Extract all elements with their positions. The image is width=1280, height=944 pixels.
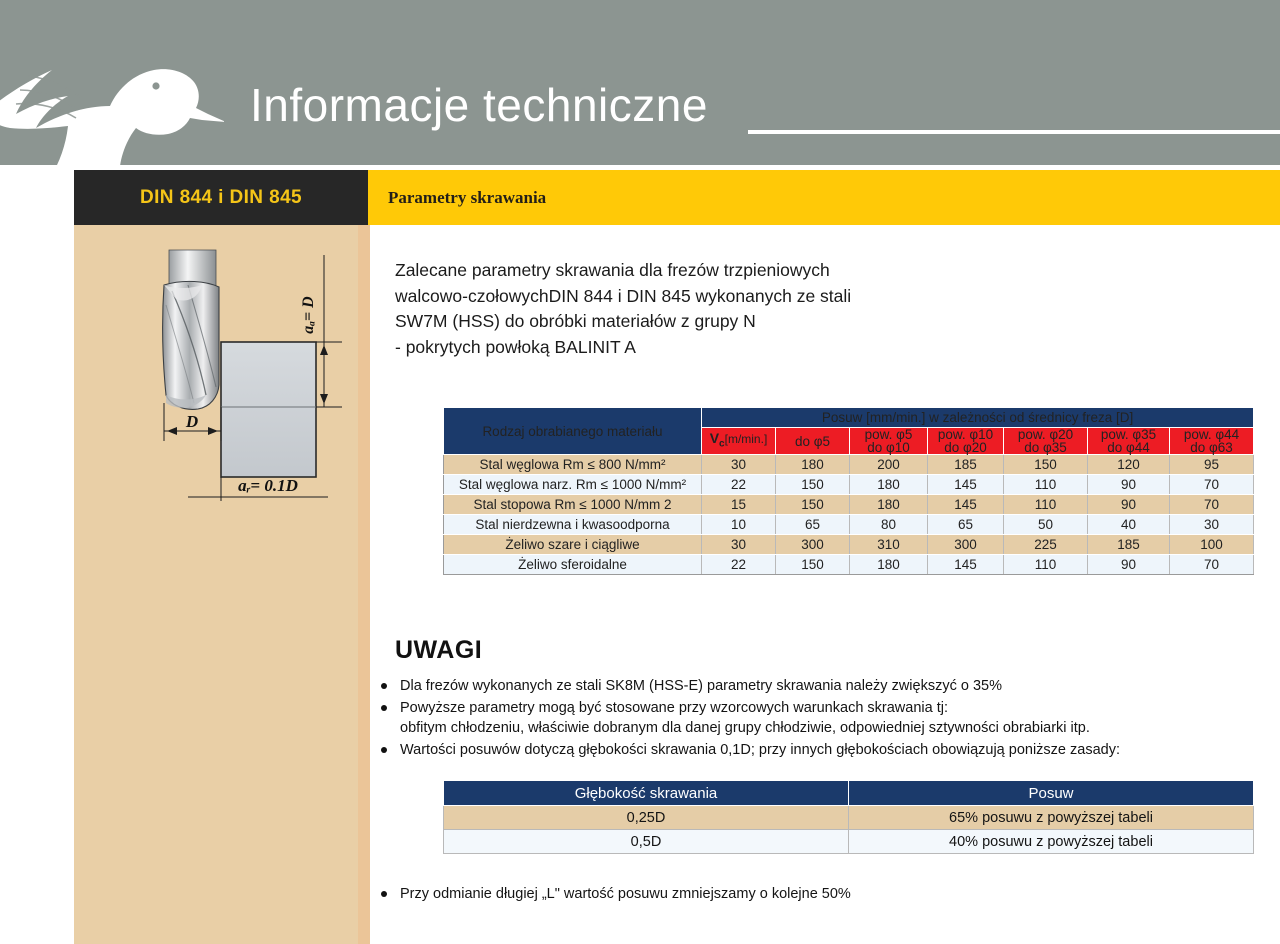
end-mill-cutting-diagram: aₐ= D D aᵣ= 0.1D [128,245,378,510]
header-col-5: pow. φ44 do φ63 [1170,428,1254,455]
row-3-v3: 50 [1004,515,1088,535]
standard-bar: DIN 844 i DIN 845 [74,170,368,225]
page-root: Informacje techniczne DIN 844 i DIN 845 … [0,0,1280,944]
header-col-3: pow. φ20 do φ35 [1004,428,1088,455]
row-5-v1: 180 [850,555,928,575]
note-item-last: Przy odmianie długiej „L" wartość posuwu… [381,884,1280,905]
row-0-v0: 180 [776,455,850,475]
header-col-4: pow. φ35 do φ44 [1088,428,1170,455]
header-col-2: pow. φ10 do φ20 [928,428,1004,455]
row-1-v3: 110 [1004,475,1088,495]
table-row: 0,25D 65% posuwu z powyższej tabeli [444,806,1254,830]
row-1-material: Stal węglowa narz. Rm ≤ 1000 N/mm² [444,475,702,495]
row-0-v5: 95 [1170,455,1254,475]
note-subtext: obfitym chłodzeniu, właściwie dobranym d… [400,718,1261,739]
depth-row-1-depth: 0,5D [444,830,849,854]
depth-feed-table: Głębokość skrawania Posuw 0,25D 65% posu… [443,780,1254,854]
row-0-v3: 150 [1004,455,1088,475]
depth-row-1-feed: 40% posuwu z powyższej tabeli [849,830,1254,854]
title-underline [748,130,1280,134]
row-4-v3: 225 [1004,535,1088,555]
depth-header-0: Głębokość skrawania [444,781,849,806]
header-col-1: pow. φ5 do φ10 [850,428,928,455]
table-row: 0,5D 40% posuwu z powyższej tabeli [444,830,1254,854]
row-0-v1: 200 [850,455,928,475]
note-item: Dla frezów wykonanych ze stali SK8M (HSS… [381,676,1261,697]
depth-header-1: Posuw [849,781,1254,806]
row-0-v4: 120 [1088,455,1170,475]
table-row: Żeliwo sferoidalne 22 150 180 145 110 90… [444,555,1254,575]
row-4-v1: 310 [850,535,928,555]
note-text: Dla frezów wykonanych ze stali SK8M (HSS… [400,678,1002,694]
note-item: Powyższe parametry mogą być stosowane pr… [381,698,1261,739]
diagram-label-diameter: D [185,412,198,431]
note-item: Wartości posuwów dotyczą głębokości skra… [381,740,1261,761]
row-2-v5: 70 [1170,495,1254,515]
row-5-v5: 70 [1170,555,1254,575]
row-1-v1: 180 [850,475,928,495]
row-3-v4: 40 [1088,515,1170,535]
row-1-v2: 145 [928,475,1004,495]
table-row: Stal węglowa narz. Rm ≤ 1000 N/mm² 22 15… [444,475,1254,495]
cutting-parameters-table: Rodzaj obrabianego materiału Posuw [mm/m… [443,407,1254,575]
intro-line-4: - pokrytych powłoką BALINIT A [395,335,995,361]
vc-symbol: V [710,430,719,446]
row-3-v0: 65 [776,515,850,535]
vc-unit: [m/min.] [725,432,768,446]
row-5-v0: 150 [776,555,850,575]
row-3-v1: 80 [850,515,928,535]
row-5-v2: 145 [928,555,1004,575]
intro-line-1: Zalecane parametry skrawania dla frezów … [395,258,995,284]
note-text: Powyższe parametry mogą być stosowane pr… [400,700,948,716]
depth-header-row: Głębokość skrawania Posuw [444,781,1254,806]
note-text: Przy odmianie długiej „L" wartość posuwu… [400,886,851,902]
page-title: Informacje techniczne [250,78,708,132]
row-3-v2: 65 [928,515,1004,535]
depth-row-0-feed: 65% posuwu z powyższej tabeli [849,806,1254,830]
row-1-v0: 150 [776,475,850,495]
col-5-bottom: do φ63 [1190,440,1233,455]
row-0-vc: 30 [702,455,776,475]
row-4-v0: 300 [776,535,850,555]
row-2-material: Stal stopowa Rm ≤ 1000 N/mm 2 [444,495,702,515]
col-1-bottom: do φ10 [867,440,910,455]
header-band: Informacje techniczne [0,0,1280,165]
bullet-icon [381,683,387,689]
table-row: Stal nierdzewna i kwasoodporna 10 65 80 … [444,515,1254,535]
row-0-v2: 185 [928,455,1004,475]
row-4-vc: 30 [702,535,776,555]
section-bar: Parametry skrawania [368,170,1280,225]
table-header-group-row: Rodzaj obrabianego materiału Posuw [mm/m… [444,408,1254,428]
row-5-vc: 22 [702,555,776,575]
table-row: Stal stopowa Rm ≤ 1000 N/mm 2 15 150 180… [444,495,1254,515]
row-4-v5: 100 [1170,535,1254,555]
note-text: Wartości posuwów dotyczą głębokości skra… [400,742,1120,758]
row-3-material: Stal nierdzewna i kwasoodporna [444,515,702,535]
row-5-v4: 90 [1088,555,1170,575]
row-1-v5: 70 [1170,475,1254,495]
col-0-bottom: do φ5 [795,434,830,449]
row-4-v4: 185 [1088,535,1170,555]
header-vc: Vc[m/min.] [702,428,776,455]
col-4-bottom: do φ44 [1107,440,1150,455]
bullet-icon [381,747,387,753]
col-2-bottom: do φ20 [944,440,987,455]
row-4-v2: 300 [928,535,1004,555]
row-2-v2: 145 [928,495,1004,515]
row-2-v3: 110 [1004,495,1088,515]
intro-line-2: walcowo-czołowychDIN 844 i DIN 845 wykon… [395,284,995,310]
depth-row-0-depth: 0,25D [444,806,849,830]
row-5-material: Żeliwo sferoidalne [444,555,702,575]
diagram-label-radial: aᵣ= 0.1D [238,476,298,495]
section-label: Parametry skrawania [388,170,546,225]
header-feed-group: Posuw [mm/min.] w zależności od średnicy… [702,408,1254,428]
bullet-icon [381,705,387,711]
intro-paragraph: Zalecane parametry skrawania dla frezów … [395,258,995,360]
intro-line-3: SW7M (HSS) do obróbki materiałów z grupy… [395,309,995,335]
table-row: Żeliwo szare i ciągliwe 30 300 310 300 2… [444,535,1254,555]
notes-list: Dla frezów wykonanych ze stali SK8M (HSS… [381,676,1261,761]
table-row: Stal węglowa Rm ≤ 800 N/mm² 30 180 200 1… [444,455,1254,475]
row-3-vc: 10 [702,515,776,535]
diagram-label-axial: aₐ= D [300,296,317,334]
standard-label: DIN 844 i DIN 845 [74,170,368,225]
row-4-material: Żeliwo szare i ciągliwe [444,535,702,555]
row-5-v3: 110 [1004,555,1088,575]
notes-title: UWAGI [395,636,482,665]
row-2-v4: 90 [1088,495,1170,515]
row-2-v0: 150 [776,495,850,515]
row-2-vc: 15 [702,495,776,515]
row-1-v4: 90 [1088,475,1170,495]
row-2-v1: 180 [850,495,928,515]
row-0-material: Stal węglowa Rm ≤ 800 N/mm² [444,455,702,475]
col-3-bottom: do φ35 [1024,440,1067,455]
row-3-v5: 30 [1170,515,1254,535]
header-material: Rodzaj obrabianego materiału [444,408,702,455]
header-col-0: do φ5 [776,428,850,455]
bullet-icon [381,891,387,897]
row-1-vc: 22 [702,475,776,495]
